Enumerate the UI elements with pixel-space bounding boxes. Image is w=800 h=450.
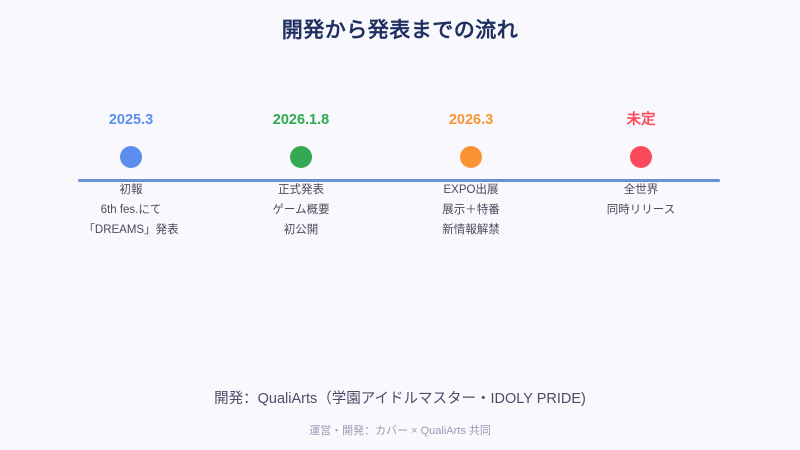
timeline-node-date: 2025.3	[46, 110, 216, 130]
timeline-node[interactable]: 2025.3 初報 6th fes.にて 「DREAMS」発表	[46, 110, 216, 240]
timeline-infographic: 開発から発表までの流れ 2025.3 初報 6th fes.にて 「DREAMS…	[0, 0, 800, 450]
timeline-node-label: ゲーム概要	[216, 200, 386, 220]
timeline-node-label: 正式発表	[216, 180, 386, 200]
timeline: 2025.3 初報 6th fes.にて 「DREAMS」発表 2026.1.8…	[0, 110, 800, 280]
timeline-node[interactable]: 2026.1.8 正式発表 ゲーム概要 初公開	[216, 110, 386, 240]
timeline-node-dot-wrap	[216, 146, 386, 168]
timeline-node-label: 新情報解禁	[386, 220, 556, 240]
timeline-node-dot-wrap	[556, 146, 726, 168]
timeline-node-label: 同時リリース	[556, 200, 726, 220]
page-title: 開発から発表までの流れ	[0, 16, 800, 46]
timeline-node-dot-wrap	[46, 146, 216, 168]
timeline-node-dot-icon	[120, 146, 142, 168]
footer-primary-text: 開発：QualiArts（学園アイドルマスター・IDOLY PRIDE)	[0, 388, 800, 410]
timeline-node-date: 2026.3	[386, 110, 556, 130]
timeline-node-labels: 正式発表 ゲーム概要 初公開	[216, 180, 386, 240]
timeline-node-date: 未定	[556, 110, 726, 130]
timeline-node-date: 2026.1.8	[216, 110, 386, 130]
timeline-node-dot-icon	[460, 146, 482, 168]
timeline-node[interactable]: 未定 全世界 同時リリース	[556, 110, 726, 220]
timeline-node-labels: 全世界 同時リリース	[556, 180, 726, 220]
timeline-node-dot-icon	[290, 146, 312, 168]
timeline-node-label: EXPO出展	[386, 180, 556, 200]
timeline-node[interactable]: 2026.3 EXPO出展 展示＋特番 新情報解禁	[386, 110, 556, 240]
timeline-node-label: 初公開	[216, 220, 386, 240]
timeline-node-dot-icon	[630, 146, 652, 168]
timeline-node-label: 6th fes.にて	[46, 200, 216, 220]
timeline-node-label: 初報	[46, 180, 216, 200]
timeline-node-labels: 初報 6th fes.にて 「DREAMS」発表	[46, 180, 216, 240]
timeline-node-labels: EXPO出展 展示＋特番 新情報解禁	[386, 180, 556, 240]
timeline-node-label: 「DREAMS」発表	[46, 220, 216, 240]
timeline-node-dot-wrap	[386, 146, 556, 168]
timeline-node-label: 全世界	[556, 180, 726, 200]
timeline-node-label: 展示＋特番	[386, 200, 556, 220]
footer-secondary-text: 運営・開発：カバー × QualiArts 共同	[0, 422, 800, 440]
